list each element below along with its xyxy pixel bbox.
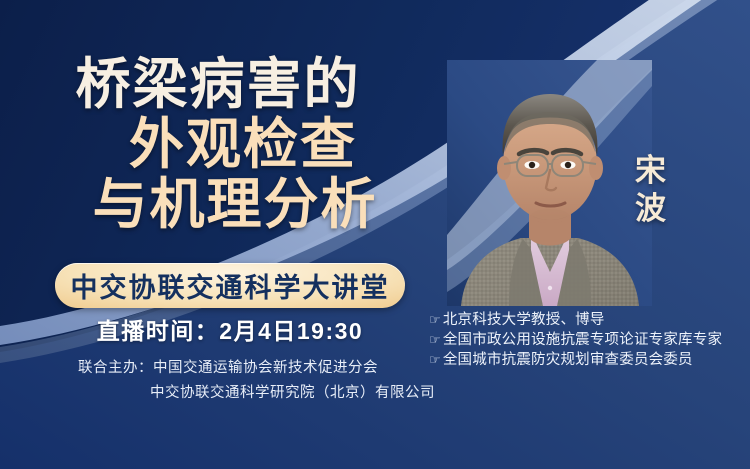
pointing-hand-icon: ☞ — [429, 311, 441, 329]
title-line-2: 外观检查 — [0, 116, 430, 172]
speaker-portrait-illustration — [447, 60, 652, 306]
speaker-photo — [447, 60, 652, 306]
organizers-block: 联合主办：中国交通运输协会新技术促进分会 中交协联交通科学研究院（北京）有限公司 — [40, 356, 440, 406]
series-banner: 中交协联交通科学大讲堂 — [55, 263, 405, 308]
pointing-hand-icon: ☞ — [429, 351, 441, 369]
speaker-name-char-2: 波 — [628, 190, 674, 228]
webinar-poster: 桥梁病害的 外观检查 与机理分析 中交协联交通科学大讲堂 直播时间：2月4日19… — [0, 0, 750, 469]
speaker-name: 宋 波 — [628, 152, 674, 228]
credential-text: 全国市政公用设施抗震专项论证专家库专家 — [443, 330, 722, 350]
series-banner-label: 中交协联交通科学大讲堂 — [71, 266, 390, 305]
organizer-line-2: 中交协联交通科学研究院（北京）有限公司 — [40, 381, 440, 406]
title-line-1: 桥梁病害的 — [0, 56, 430, 112]
credential-text: 北京科技大学教授、博导 — [443, 310, 605, 330]
title-line-3: 与机理分析 — [0, 176, 430, 232]
poster-title: 桥梁病害的 外观检查 与机理分析 — [0, 56, 430, 232]
credential-item: ☞ 全国城市抗震防灾规划审查委员会委员 — [429, 350, 722, 370]
organizer-line-1: 联合主办：中国交通运输协会新技术促进分会 — [40, 356, 440, 381]
credential-text: 全国城市抗震防灾规划审查委员会委员 — [443, 350, 693, 370]
credential-item: ☞ 全国市政公用设施抗震专项论证专家库专家 — [429, 330, 722, 350]
pointing-hand-icon: ☞ — [429, 331, 441, 349]
speaker-name-char-1: 宋 — [628, 152, 674, 190]
livestream-time: 直播时间：2月4日19:30 — [55, 312, 405, 346]
credential-item: ☞ 北京科技大学教授、博导 — [429, 310, 722, 330]
speaker-credentials: ☞ 北京科技大学教授、博导 ☞ 全国市政公用设施抗震专项论证专家库专家 ☞ 全国… — [429, 310, 722, 370]
